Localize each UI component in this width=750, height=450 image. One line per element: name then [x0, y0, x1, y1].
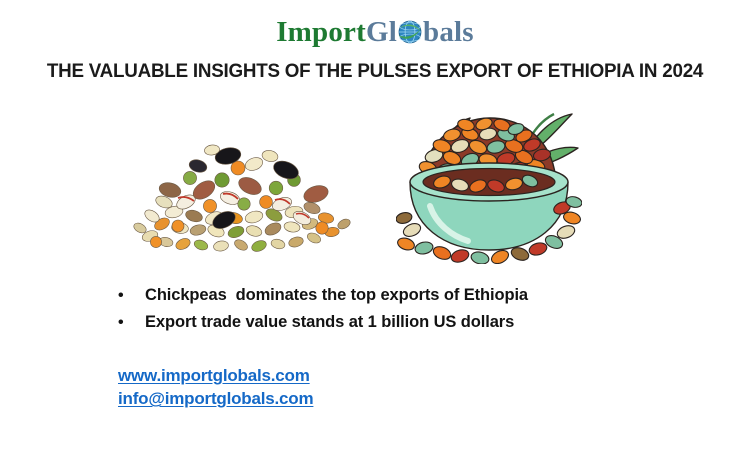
artwork-row	[0, 100, 750, 265]
logo-text-bals: bals	[423, 16, 474, 48]
infographic-poster: ImportGl bals THE VALUABLE INSIGHTS OF T…	[0, 0, 750, 450]
brand-logo[interactable]: ImportGl bals	[0, 18, 750, 47]
globe-icon	[397, 19, 423, 45]
contact-links: www.importglobals.com info@importglobals…	[118, 364, 313, 410]
bullet-marker-icon: •	[118, 283, 145, 309]
logo-text-import: Import	[276, 16, 366, 48]
bowl-of-beans-image	[396, 102, 582, 264]
list-item: • Chickpeas dominates the top exports of…	[118, 282, 718, 309]
list-item-label: Export trade value stands at 1 billion U…	[145, 309, 514, 335]
logo-text-gl: Gl	[366, 16, 397, 48]
insights-bullet-list: • Chickpeas dominates the top exports of…	[118, 282, 718, 336]
email-link[interactable]: info@importglobals.com	[118, 387, 313, 410]
list-item-label: Chickpeas dominates the top exports of E…	[145, 282, 528, 308]
list-item: • Export trade value stands at 1 billion…	[118, 309, 718, 336]
page-title: THE VALUABLE INSIGHTS OF THE PULSES EXPO…	[13, 60, 737, 83]
bullet-marker-icon: •	[118, 310, 145, 336]
mixed-pulses-pile-image	[126, 132, 358, 254]
website-link[interactable]: www.importglobals.com	[118, 364, 313, 387]
